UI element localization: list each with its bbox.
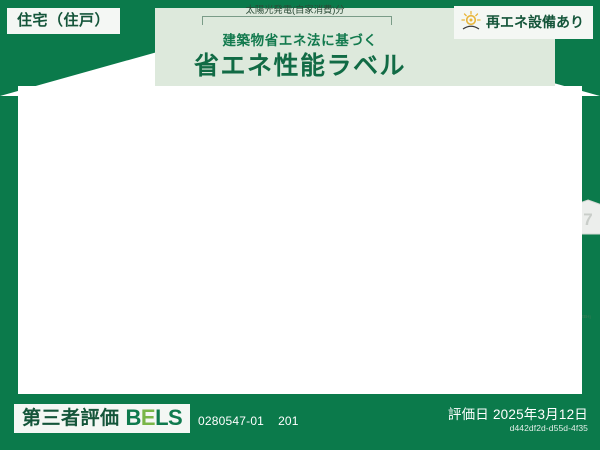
renewable-badge-label: 再エネ設備あり — [486, 15, 584, 29]
unit-number: 201 — [278, 414, 299, 428]
energy-performance-label: 住宅（住戸） 再エネ設備あり 建築物省エネ法に基づく 省エネ性能ラベル — [0, 0, 600, 450]
document-hash: d442df2d-d55d-4f35 — [510, 423, 588, 433]
solar-bracket-label: 太陽光発電(自家消費)分 — [195, 2, 395, 16]
bels-certification-chip: 第三者評価 BELS — [14, 404, 190, 433]
evaluation-date: 評価日 2025年3月12日 — [448, 403, 588, 423]
bels-letter-b: B — [126, 405, 141, 430]
certificate-id: 0280547-01 — [198, 414, 264, 428]
title-block: 建築物省エネ法に基づく 省エネ性能ラベル — [0, 34, 600, 81]
bels-letter-e: E — [141, 405, 155, 430]
bels-letter-s: S — [168, 405, 182, 430]
housing-type-badge: 住宅（住戸） — [7, 8, 120, 34]
solar-sun-icon — [460, 10, 482, 34]
certificate-id-row: 0280547-01201 — [198, 414, 299, 428]
solar-bracket-line — [202, 16, 392, 25]
third-party-label: 第三者評価 — [22, 409, 120, 428]
label-card — [18, 86, 582, 394]
bels-letter-l: L — [155, 405, 168, 430]
title-main: 省エネ性能ラベル — [0, 51, 600, 81]
footer-band: 第三者評価 BELS 0280547-01201 評価日 2025年3月12日 … — [0, 398, 600, 450]
bels-wordmark: BELS — [126, 407, 183, 429]
renewable-equipment-badge: 再エネ設備あり — [454, 6, 593, 39]
